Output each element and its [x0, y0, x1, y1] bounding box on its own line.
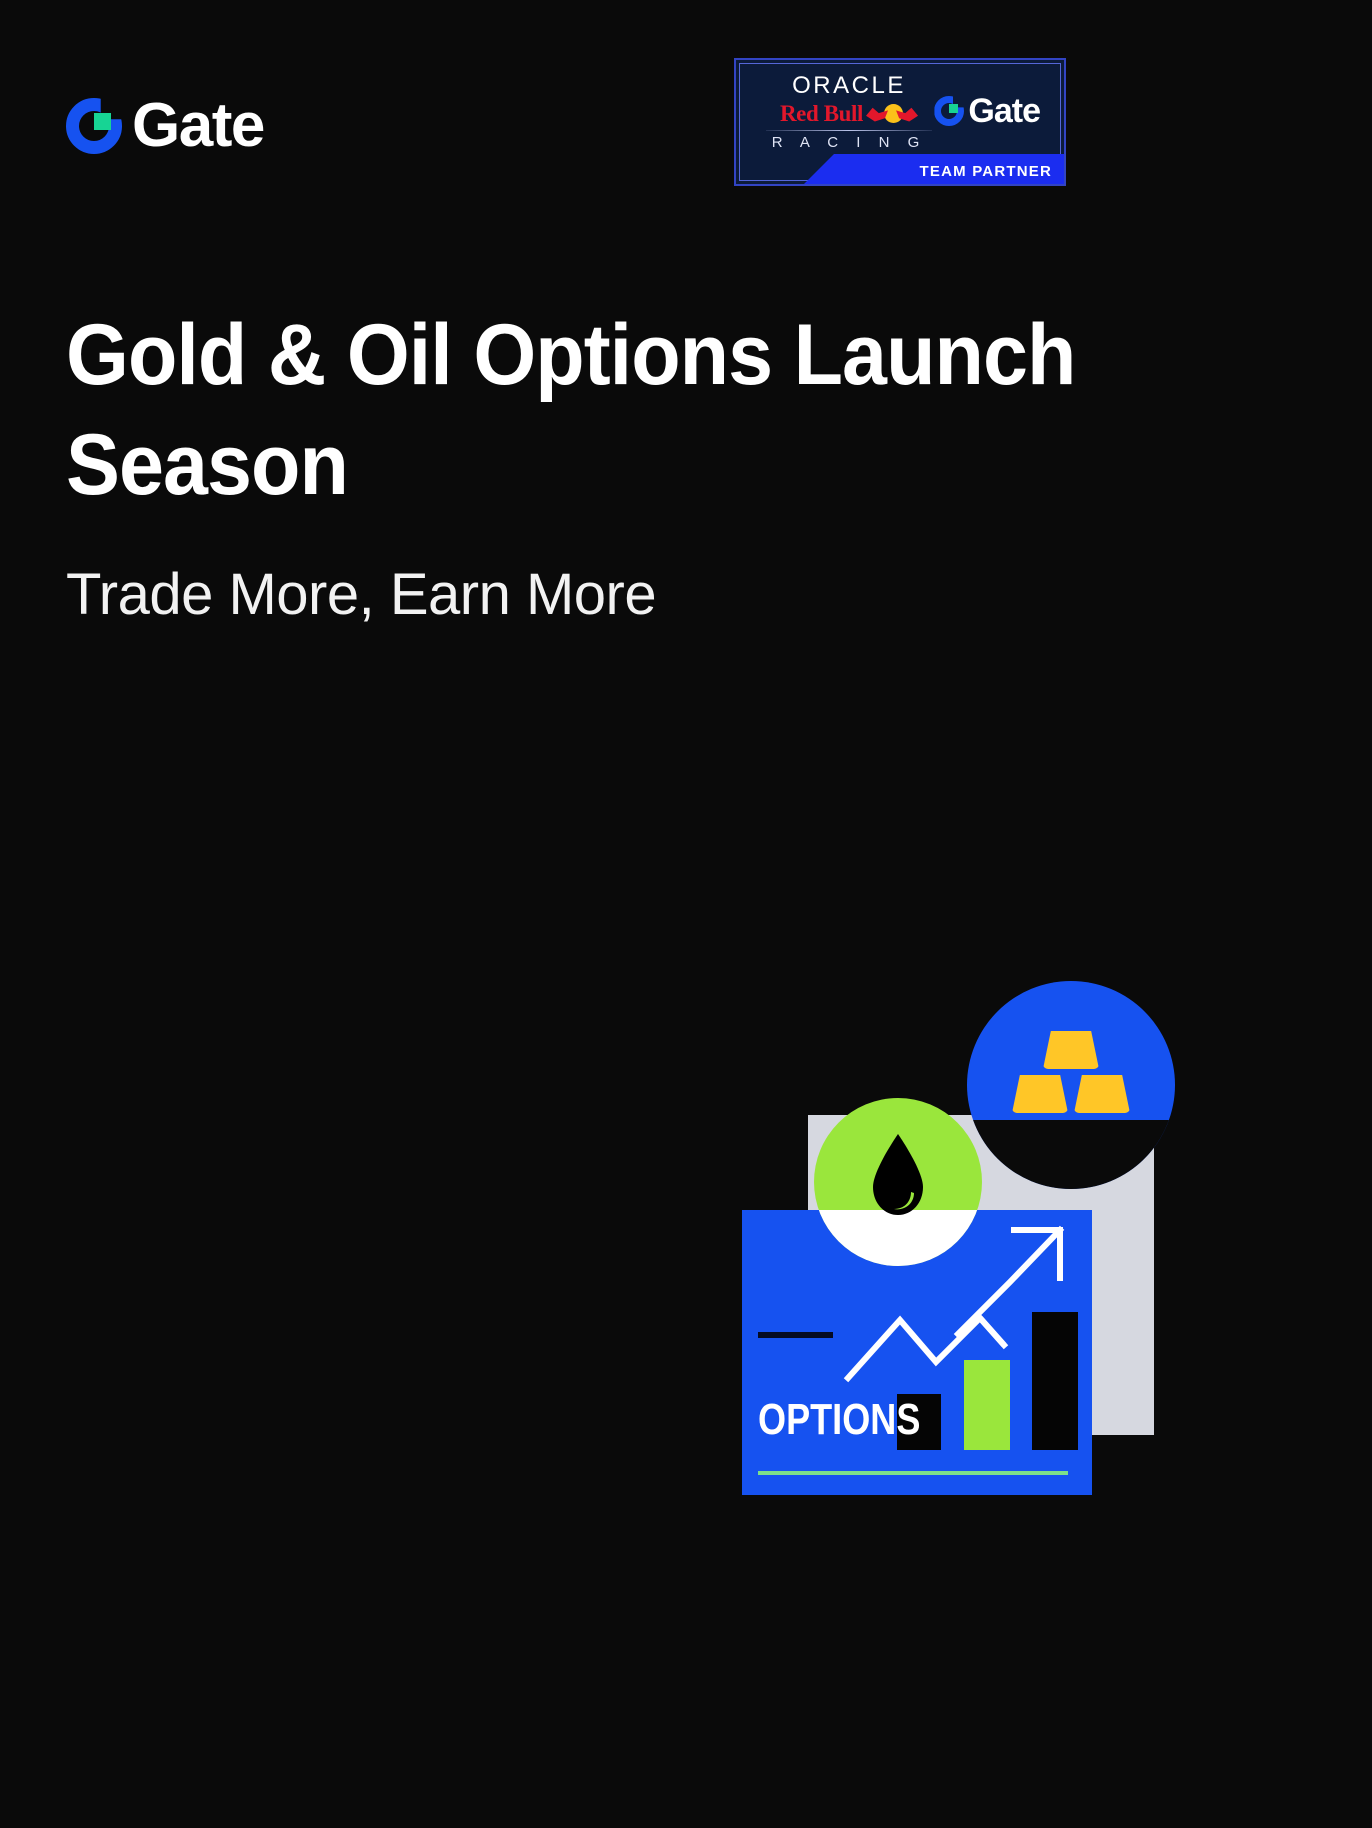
- brand-wordmark: Gate: [132, 95, 264, 157]
- badge-gate-logo: Gate: [934, 94, 1040, 128]
- gold-bar-top: [1043, 1031, 1099, 1069]
- red-bull-racing-lockup: ORACLE Red Bull R A C I N G: [766, 74, 932, 150]
- gate-logo-icon: [66, 98, 122, 154]
- oil-droplet-badge: [814, 1098, 982, 1266]
- gate-logo-icon: [934, 96, 964, 126]
- brand-logo[interactable]: Gate: [66, 95, 264, 157]
- gold-bars-badge: [967, 981, 1175, 1189]
- racing-label: R A C I N G: [766, 135, 932, 150]
- page-subtitle: Trade More, Earn More: [66, 560, 1246, 630]
- badge-divider: [766, 130, 932, 131]
- gold-circle-lower-mask: [967, 1120, 1175, 1189]
- team-partner-label: TEAM PARTNER: [920, 164, 1052, 179]
- oil-droplet-icon: [867, 1132, 929, 1218]
- gate-logo-accent-square: [949, 104, 958, 113]
- page-header: Gate ORACLE Red Bull R A C I N G Gate: [0, 0, 1372, 200]
- red-bull-row: Red Bull: [766, 102, 932, 125]
- red-bull-charging-bulls-icon: [866, 103, 918, 125]
- red-bull-label: Red Bull: [780, 102, 863, 125]
- gold-and-oil-options-illustration: OPTIONS: [742, 985, 1222, 1505]
- page-title: Gold & Oil Options Launch Season: [66, 300, 1128, 520]
- gold-bar-bottom-right: [1074, 1075, 1130, 1113]
- gold-bars-icon: [1012, 1031, 1130, 1117]
- hero-section: Gold & Oil Options Launch Season Trade M…: [66, 300, 1246, 630]
- card-baseline-accent: [758, 1471, 1068, 1475]
- oil-circle-lower-mask: [814, 1210, 982, 1266]
- team-partner-band: TEAM PARTNER: [736, 154, 1064, 184]
- oracle-label: ORACLE: [766, 74, 932, 98]
- badge-gate-wordmark: Gate: [968, 94, 1040, 128]
- gold-bar-bottom-left: [1012, 1075, 1068, 1113]
- gate-logo-accent-square: [94, 113, 111, 130]
- options-label: OPTIONS: [758, 1398, 920, 1442]
- partner-badge[interactable]: ORACLE Red Bull R A C I N G Gate TEAM PA…: [734, 58, 1066, 186]
